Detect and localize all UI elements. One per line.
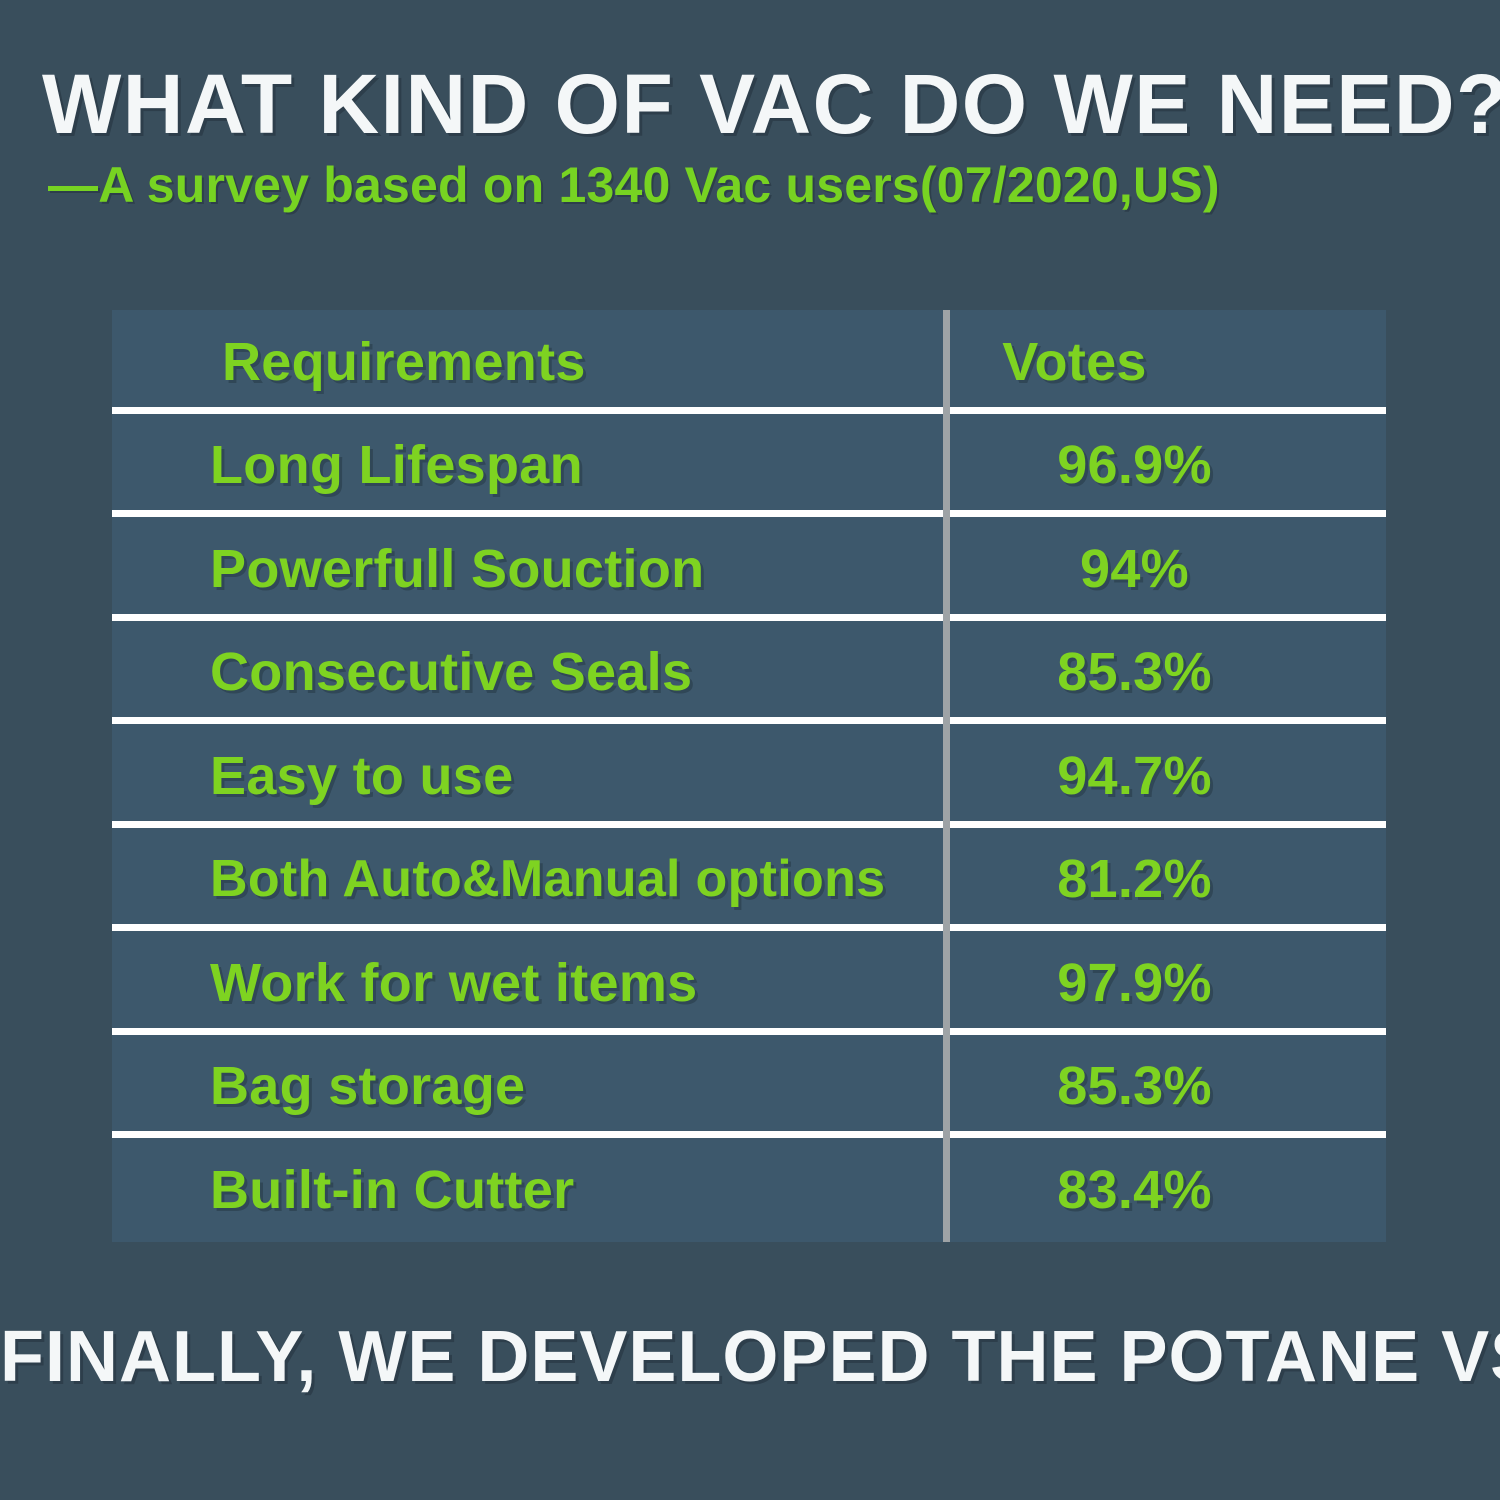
page-subtitle: —A survey based on 1340 Vac users(07/202… [48,160,1488,210]
votes-value: 85.3% [943,1055,1386,1117]
table-row: Bag storage 85.3% [112,1035,1386,1139]
votes-value: 94% [943,538,1386,600]
column-divider [943,310,950,1242]
table-row: Consecutive Seals 85.3% [112,621,1386,725]
requirement-label: Bag storage [112,1055,943,1117]
requirement-label: Powerfull Souction [112,538,943,600]
table-row: Easy to use 94.7% [112,724,1386,828]
votes-value: 83.4% [943,1159,1386,1221]
table-row: Both Auto&Manual options 81.2% [112,828,1386,932]
requirement-label: Consecutive Seals [112,641,943,703]
footer-note: FINALLY, WE DEVELOPED THE POTANE VS5736 [0,1316,1500,1398]
survey-results-table: Requirements Votes Long Lifespan 96.9% P… [112,310,1386,1242]
table-row: Powerfull Souction 94% [112,517,1386,621]
requirement-label: Both Auto&Manual options [112,849,943,909]
requirement-label: Work for wet items [112,952,943,1014]
column-header-requirements: Requirements [112,331,943,393]
table-row: Long Lifespan 96.9% [112,414,1386,518]
requirement-label: Built-in Cutter [112,1159,943,1221]
table-header-row: Requirements Votes [112,310,1386,414]
votes-value: 94.7% [943,745,1386,807]
requirement-label: Easy to use [112,745,943,807]
page-title: WHAT KIND OF VAC DO WE NEED? [42,62,1482,146]
column-header-votes: Votes [943,331,1386,393]
votes-value: 96.9% [943,434,1386,496]
table-row: Work for wet items 97.9% [112,931,1386,1035]
votes-value: 97.9% [943,952,1386,1014]
votes-value: 85.3% [943,641,1386,703]
votes-value: 81.2% [943,848,1386,910]
table-row: Built-in Cutter 83.4% [112,1138,1386,1242]
requirement-label: Long Lifespan [112,434,943,496]
